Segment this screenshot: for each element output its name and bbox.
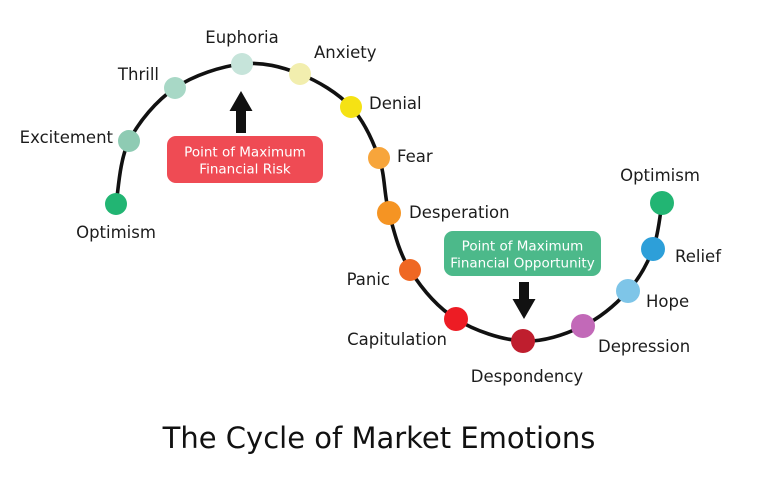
emotion-dot-thrill[interactable]: [164, 77, 186, 99]
emotion-label-optimism: Optimism: [76, 223, 156, 242]
annotation-badge-line: Point of Maximum: [184, 145, 306, 161]
emotion-label-desperation: Desperation: [409, 203, 510, 222]
emotion-label-despondency: Despondency: [471, 367, 584, 386]
emotion-dot-excitement[interactable]: [118, 130, 140, 152]
arrow-down-icon: [513, 282, 536, 319]
emotion-dot-anxiety[interactable]: [289, 63, 311, 85]
emotion-label-hope: Hope: [646, 292, 689, 311]
emotion-node-optimism-14[interactable]: Optimism: [620, 166, 700, 215]
emotion-label-capitulation: Capitulation: [347, 330, 447, 349]
annotation-badge-line: Financial Risk: [199, 162, 291, 178]
emotion-node-optimism-0[interactable]: Optimism: [76, 193, 156, 242]
emotion-dot-relief[interactable]: [641, 237, 665, 261]
emotion-dot-euphoria[interactable]: [231, 53, 253, 75]
market-emotion-cycle-diagram: Point of MaximumFinancial RiskPoint of M…: [0, 0, 758, 480]
annotation-badge-max-risk: Point of MaximumFinancial Risk: [167, 136, 323, 183]
emotion-node-despondency-10[interactable]: Despondency: [471, 329, 584, 386]
emotion-label-panic: Panic: [347, 270, 390, 289]
emotion-label-euphoria: Euphoria: [205, 28, 278, 47]
arrow-up-icon: [230, 91, 253, 133]
emotion-node-relief-13[interactable]: Relief: [641, 237, 722, 266]
emotion-node-fear-6[interactable]: Fear: [368, 147, 433, 169]
emotion-label-fear: Fear: [397, 147, 433, 166]
emotion-label-anxiety: Anxiety: [314, 43, 377, 62]
emotion-dot-despondency[interactable]: [511, 329, 535, 353]
emotion-node-anxiety-4[interactable]: Anxiety: [289, 43, 377, 85]
emotion-node-excitement-1[interactable]: Excitement: [20, 128, 140, 152]
emotion-label-excitement: Excitement: [20, 128, 114, 147]
emotion-node-desperation-7[interactable]: Desperation: [377, 201, 510, 225]
emotion-node-panic-8[interactable]: Panic: [347, 259, 421, 289]
emotion-dot-hope[interactable]: [616, 279, 640, 303]
annotation-badge-max-opportunity: Point of MaximumFinancial Opportunity: [444, 231, 601, 276]
emotion-label-depression: Depression: [598, 337, 690, 356]
annotation-badge-line: Point of Maximum: [462, 239, 584, 255]
emotion-dot-fear[interactable]: [368, 147, 390, 169]
emotion-dot-denial[interactable]: [340, 96, 362, 118]
emotion-dot-desperation[interactable]: [377, 201, 401, 225]
emotion-dot-capitulation[interactable]: [444, 307, 468, 331]
emotion-dot-optimism[interactable]: [650, 191, 674, 215]
diagram-canvas: Point of MaximumFinancial RiskPoint of M…: [0, 0, 758, 480]
emotion-dot-optimism[interactable]: [105, 193, 127, 215]
emotion-node-denial-5[interactable]: Denial: [340, 94, 422, 118]
emotion-dot-panic[interactable]: [399, 259, 421, 281]
emotion-dot-depression[interactable]: [571, 314, 595, 338]
emotion-label-optimism: Optimism: [620, 166, 700, 185]
emotion-node-capitulation-9[interactable]: Capitulation: [347, 307, 468, 349]
emotion-label-relief: Relief: [675, 247, 722, 266]
emotion-node-hope-12[interactable]: Hope: [616, 279, 689, 311]
emotion-node-thrill-2[interactable]: Thrill: [117, 65, 186, 99]
emotion-node-group: OptimismExcitementThrillEuphoriaAnxietyD…: [20, 28, 723, 386]
emotion-node-depression-11[interactable]: Depression: [571, 314, 690, 356]
emotion-label-thrill: Thrill: [117, 65, 159, 84]
chart-title: The Cycle of Market Emotions: [162, 421, 596, 455]
emotion-label-denial: Denial: [369, 94, 422, 113]
annotation-badge-line: Financial Opportunity: [450, 256, 594, 272]
